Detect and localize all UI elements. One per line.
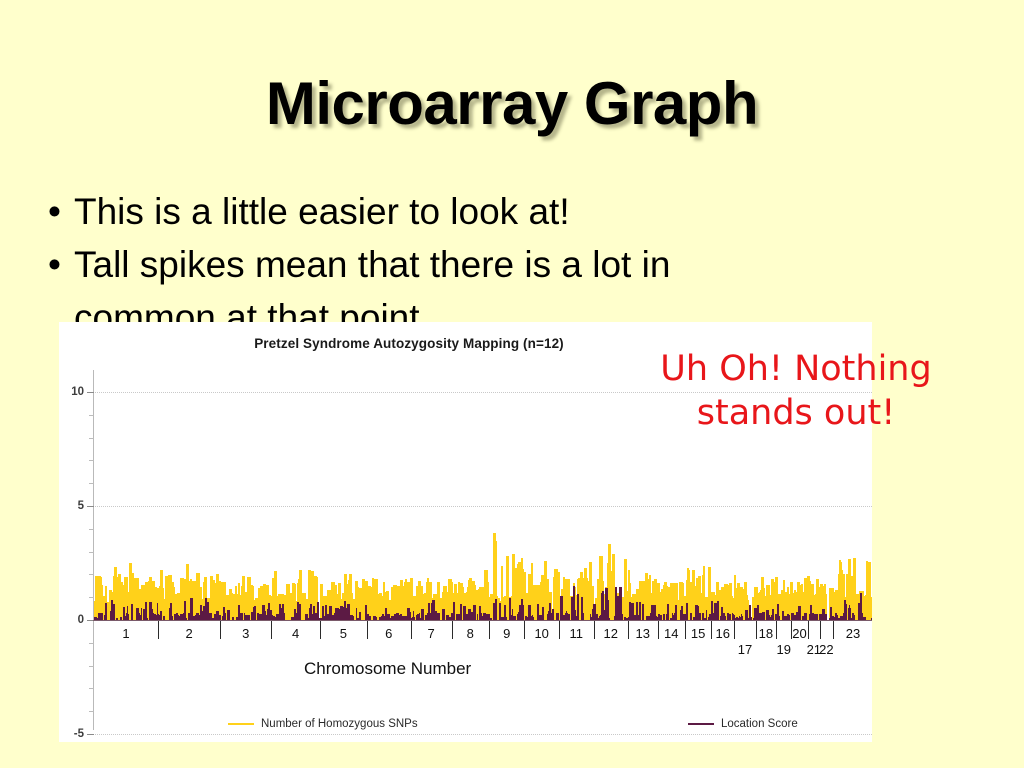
page-title: Microarray Graph [0,72,1024,135]
spike-location-score [652,613,655,620]
spike-location-score [711,601,713,620]
spike-location-score [342,607,343,620]
chromosome-separator [489,621,490,639]
spike-location-score [542,607,544,620]
chromosome-label-22: 22 [819,642,833,657]
chromosome-separator [452,621,453,639]
spike-location-score [322,606,325,620]
y-axis-label-5: 5 [78,500,84,512]
spike-location-score [428,603,431,620]
spike-location-score [314,609,315,620]
chromosome-separator [756,621,757,639]
chromosome-separator [734,621,735,639]
chromosome-separator [658,621,659,639]
y-tick-10 [87,392,94,393]
chromosome-label-4: 4 [292,626,299,641]
spike-location-score [435,611,437,620]
spike-location-score [131,604,133,620]
spike-location-score [556,613,558,620]
spike-location-score [592,609,595,620]
slide-body-text: •This is a little easier to look at! •Ta… [48,186,948,345]
spike-location-score [581,613,584,620]
chromosome-separator [367,621,368,639]
spike-location-score [690,613,692,620]
y-minor-tick [89,666,94,667]
spike-location-score [852,613,854,620]
chromosome-label-23: 23 [846,626,860,641]
legend-swatch-icon [688,723,714,725]
spike-location-score [702,613,704,620]
spike-location-score [796,613,798,620]
spike-location-score [521,606,523,621]
spike-location-score [602,610,605,620]
chromosome-label-19: 19 [777,642,791,657]
y-axis-label-0: 0 [78,614,84,626]
spike-location-score [528,605,531,620]
spike-location-score [512,609,513,620]
chromosome-label-15: 15 [691,626,705,641]
spike-location-score [636,609,638,620]
bullet-text-2: Tall spikes mean that there is a lot in [74,244,670,285]
chromosome-label-18: 18 [759,626,773,641]
spike-location-score [617,596,620,620]
spike-location-score [642,604,644,620]
chromosome-separator [628,621,629,639]
chromosome-separator [320,621,321,639]
spike-location-score [224,613,226,620]
chromosome-label-17: 17 [738,642,752,657]
bullet-marker-icon: • [48,239,74,292]
legend-item-1: Number of Homozygous SNPs [228,718,418,730]
spike-location-score [209,613,210,620]
chromosome-label-7: 7 [427,626,434,641]
spike-location-score [667,606,669,620]
spike-location-score [860,593,862,620]
chromosome-separator [711,621,712,639]
chromosome-label-14: 14 [664,626,678,641]
y-axis-label-10: 10 [71,386,84,398]
chromosome-label-13: 13 [636,626,650,641]
spike-location-score [849,613,851,620]
spike-location-score [184,601,186,620]
spike-location-score [810,605,812,620]
bullet-marker-icon: • [48,186,74,239]
chromosome-separator [158,621,159,639]
spike-location-score [263,611,266,620]
spike-location-score [473,605,476,620]
spike-location-score [844,606,846,620]
bullet-item-1: •This is a little easier to look at! [48,186,948,239]
chromosome-label-3: 3 [242,626,249,641]
chromosome-label-5: 5 [340,626,347,641]
spike-location-score [698,613,700,620]
spike-location-score [619,587,622,620]
spike-location-score [453,602,455,621]
legend-swatch-icon [228,723,254,725]
chromosome-label-12: 12 [604,626,618,641]
spike-location-score [334,613,336,620]
annotation-callout: Uh Oh! Nothing stands out! [640,348,952,436]
bullet-item-2: •Tall spikes mean that there is a lot in [48,239,948,292]
spike-location-score [639,602,641,620]
chromosome-separator [594,621,595,639]
spike-location-score [188,613,190,620]
spike-location-score [337,608,339,620]
spike-location-score [605,588,608,620]
annotation-line-2: stands out! [640,392,952,436]
chromosome-label-9: 9 [503,626,510,641]
bullet-text-1: This is a little easier to look at! [74,191,570,232]
spike-location-score [772,609,774,620]
spike-location-score [721,607,723,620]
spike-location-score [100,613,103,620]
spike-location-score [504,605,506,620]
spike-location-score [804,613,806,620]
chromosome-separator [833,621,834,639]
spike-location-score [126,613,128,620]
spike-location-score [549,603,552,620]
y-minor-tick [89,711,94,712]
y-minor-tick [89,643,94,644]
chromosome-separator [776,621,777,639]
chromosome-separator [559,621,560,639]
chart-legend: Number of Homozygous SNPsLocation Score [59,718,872,738]
spike-location-score [499,603,501,620]
chromosome-separator [524,621,525,639]
y-minor-tick [89,688,94,689]
chromosome-separator [808,621,809,639]
spike-location-score [253,607,256,620]
chromosome-label-11: 11 [569,626,583,641]
spike-location-score [282,604,284,620]
annotation-line-1: Uh Oh! Nothing [640,348,952,392]
chromosome-separator [820,621,821,639]
spike-location-score [757,605,759,620]
spike-location-score [346,612,348,620]
legend-label: Location Score [721,718,798,730]
chromosome-separator [220,621,221,639]
spike-location-score [413,611,414,620]
spike-location-score [123,607,125,620]
chromosome-label-8: 8 [467,626,474,641]
spike-location-score [169,608,170,620]
spike-location-score [717,611,718,620]
chromosome-label-20: 20 [792,626,806,641]
spike-location-score [145,602,147,620]
y-tick-5 [87,506,94,507]
spike-location-score [238,605,240,620]
legend-item-2: Location Score [688,718,798,730]
chromosome-separator [685,621,686,639]
spike-location-score [298,609,300,620]
x-axis-title: Chromosome Number [304,659,471,679]
chromosome-separator [271,621,272,639]
legend-label: Number of Homozygous SNPs [261,718,418,730]
spike-location-score [830,607,832,620]
chromosome-label-16: 16 [716,626,730,641]
chromosome-label-2: 2 [186,626,193,641]
chromosome-label-1: 1 [122,626,129,641]
chromosome-label-10: 10 [534,626,548,641]
chromosome-separator [411,621,412,639]
chromosome-label-6: 6 [385,626,392,641]
